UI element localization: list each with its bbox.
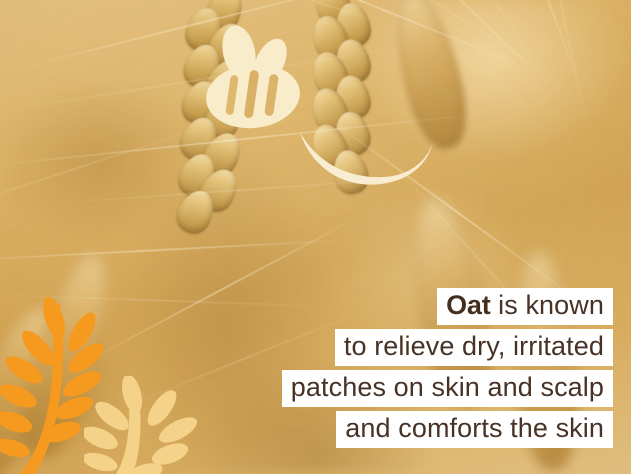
headline-line-text: patches on skin and scalp — [291, 372, 604, 402]
oat-ingredient-banner: Oat is known to relieve dry, irritated p… — [0, 0, 631, 474]
headline-line: patches on skin and scalp — [282, 370, 613, 407]
headline-line: to relieve dry, irritated — [335, 329, 613, 366]
headline-line: Oat is known — [437, 288, 613, 325]
bee-icon — [203, 22, 307, 132]
headline-line-text: to relieve dry, irritated — [344, 331, 604, 361]
headline-line-text: is known — [491, 290, 604, 320]
headline-lead-word: Oat — [446, 290, 490, 320]
headline-line: and comforts the skin — [336, 411, 613, 448]
headline-line-text: and comforts the skin — [345, 413, 604, 443]
fern-branch-cream-icon — [84, 376, 216, 474]
crescent-swoosh-icon — [296, 118, 436, 196]
headline-text-block: Oat is known to relieve dry, irritated p… — [282, 288, 613, 448]
